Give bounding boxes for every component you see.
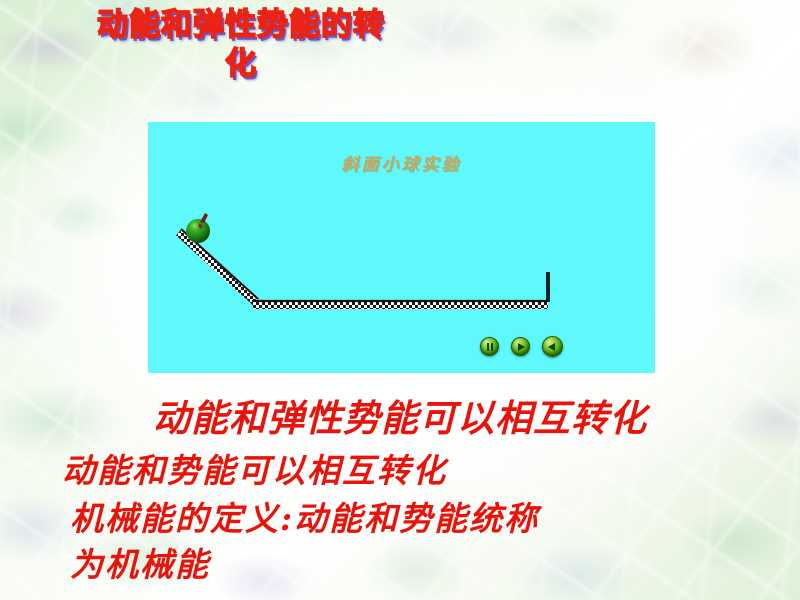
statement-line-d: 为机械能: [70, 538, 210, 586]
rewind-icon: [543, 337, 562, 356]
play-button[interactable]: [511, 337, 530, 356]
experiment-media-panel[interactable]: 斜面小球实验: [148, 122, 655, 373]
rewind-button[interactable]: [542, 336, 563, 357]
experiment-stage: [148, 122, 655, 373]
slide-title-block: 动能和弹性势能的转 化: [16, 6, 466, 84]
rolling-ball: [186, 219, 210, 243]
statement-line-b: 动能和势能可以相互转化: [62, 444, 447, 492]
statement-line-c: 机械能的定义:动能和势能统称: [70, 492, 539, 540]
ball-marker-icon: [200, 213, 208, 223]
pause-button[interactable]: [480, 337, 499, 356]
statement-line-a: 动能和弹性势能可以相互转化: [0, 388, 800, 442]
experiment-drawing: [148, 122, 655, 373]
ground-checker-band: [253, 302, 548, 309]
ball-group: [186, 213, 210, 243]
pause-icon: [481, 338, 498, 355]
slide-canvas: 动能和弹性势能的转 化 斜面小球实验: [0, 0, 800, 600]
ramp-checker-band: [179, 232, 256, 302]
ground-group: [252, 301, 548, 309]
media-controls: [480, 336, 563, 357]
play-icon: [512, 338, 529, 355]
vertical-post: [546, 272, 550, 302]
slide-title: 动能和弹性势能的转 化: [16, 6, 466, 84]
